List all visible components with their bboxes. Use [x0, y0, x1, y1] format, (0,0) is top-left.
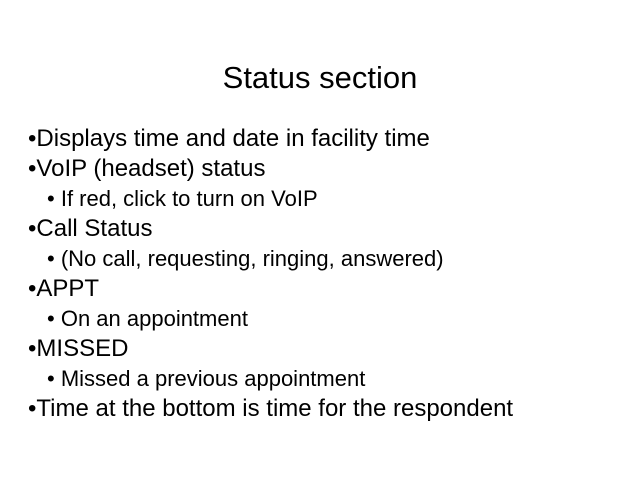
bullet-icon: •: [47, 366, 55, 391]
bullet-icon: •: [47, 186, 55, 211]
list-item: •Displays time and date in facility time: [28, 124, 624, 154]
list-item: • Missed a previous appointment: [28, 364, 624, 394]
list-item-label: (No call, requesting, ringing, answered): [61, 246, 444, 271]
list-item: • (No call, requesting, ringing, answere…: [28, 244, 624, 274]
list-item: •Time at the bottom is time for the resp…: [28, 394, 624, 424]
bullet-list: •Displays time and date in facility time…: [28, 124, 624, 424]
list-item-label: Call Status: [36, 215, 152, 242]
list-item: •APPT: [28, 274, 624, 304]
list-item-label: If red, click to turn on VoIP: [61, 186, 318, 211]
slide: Status section •Displays time and date i…: [0, 0, 640, 480]
list-item-label: Time at the bottom is time for the respo…: [36, 395, 513, 422]
list-item: •Call Status: [28, 214, 624, 244]
list-item-label: Missed a previous appointment: [61, 366, 366, 391]
list-item-label: APPT: [36, 275, 99, 302]
bullet-icon: •: [47, 306, 55, 331]
list-item: •MISSED: [28, 334, 624, 364]
page-title: Status section: [0, 59, 640, 97]
list-item: •VoIP (headset) status: [28, 154, 624, 184]
list-item-label: Displays time and date in facility time: [36, 125, 430, 152]
list-item-label: VoIP (headset) status: [36, 155, 265, 182]
bullet-icon: •: [47, 246, 55, 271]
list-item-label: On an appointment: [61, 306, 248, 331]
list-item: • On an appointment: [28, 304, 624, 334]
list-item: • If red, click to turn on VoIP: [28, 184, 624, 214]
list-item-label: MISSED: [36, 335, 128, 362]
